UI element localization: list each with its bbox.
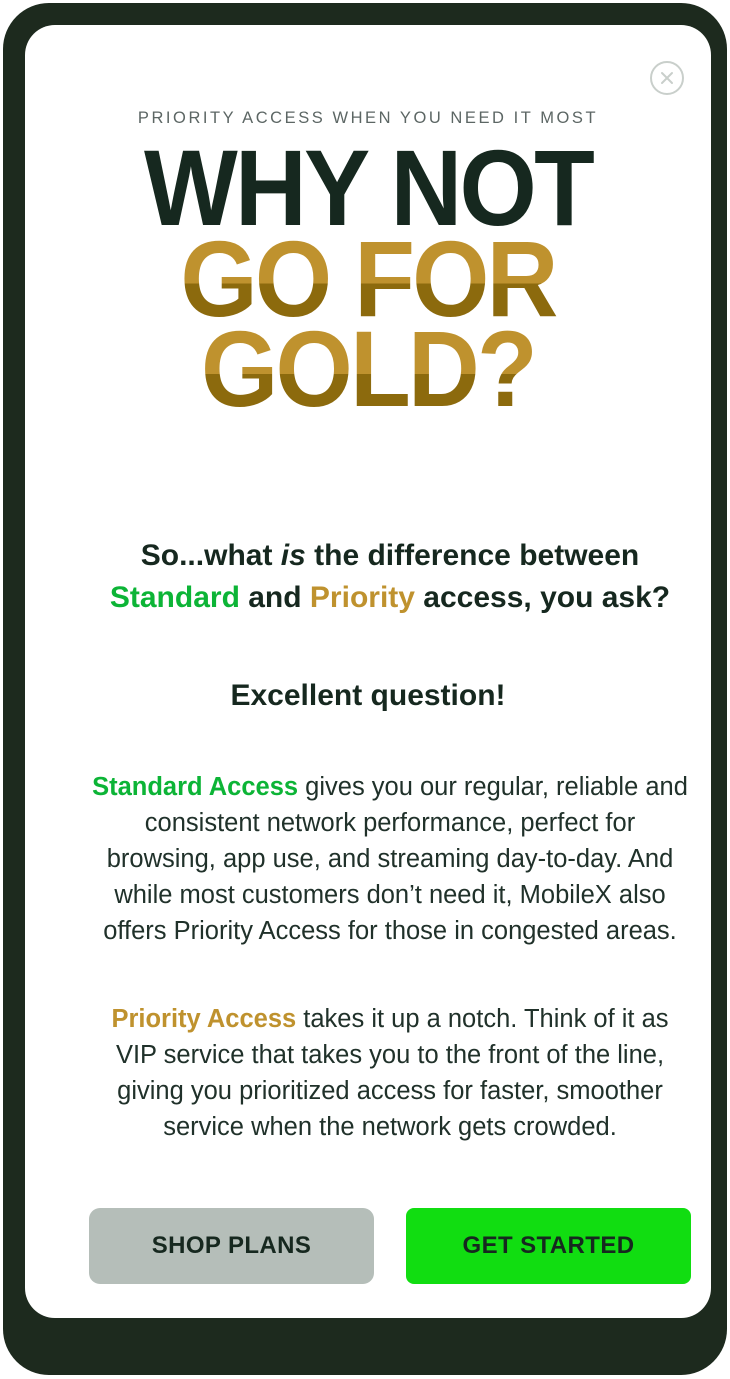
page-title: WHY NOT GO FOR GOLD? [25, 143, 711, 415]
intro-priority-word: Priority [310, 581, 415, 614]
close-icon[interactable] [650, 61, 684, 95]
paragraph-priority-access: Priority Access takes it up a notch. Thi… [89, 1001, 691, 1146]
shop-plans-button[interactable]: SHOP PLANS [89, 1208, 374, 1284]
standard-access-lead: Standard Access [92, 773, 298, 801]
intro-question: So...what is the difference between Stan… [83, 535, 697, 618]
promo-modal: PRIORITY ACCESS WHEN YOU NEED IT MOST WH… [25, 25, 711, 1318]
intro-emphasis: is [281, 539, 306, 572]
device-frame: PRIORITY ACCESS WHEN YOU NEED IT MOST WH… [3, 3, 727, 1375]
close-x-glyph [659, 70, 675, 86]
priority-access-lead: Priority Access [111, 1005, 296, 1033]
paragraph-standard-access: Standard Access gives you our regular, r… [89, 769, 691, 950]
intro-part-4: access, you ask? [415, 581, 670, 614]
excellent-question-line: Excellent question! [25, 679, 711, 713]
intro-standard-word: Standard [110, 581, 240, 614]
cta-row: SHOP PLANS GET STARTED [89, 1208, 691, 1284]
intro-part-3: and [240, 581, 310, 614]
intro-part-1: So...what [141, 539, 281, 572]
headline-line-3: GOLD? [52, 324, 683, 415]
get-started-button[interactable]: GET STARTED [406, 1208, 691, 1284]
modal-eyebrow: PRIORITY ACCESS WHEN YOU NEED IT MOST [25, 109, 711, 128]
intro-part-2: the difference between [306, 539, 639, 572]
